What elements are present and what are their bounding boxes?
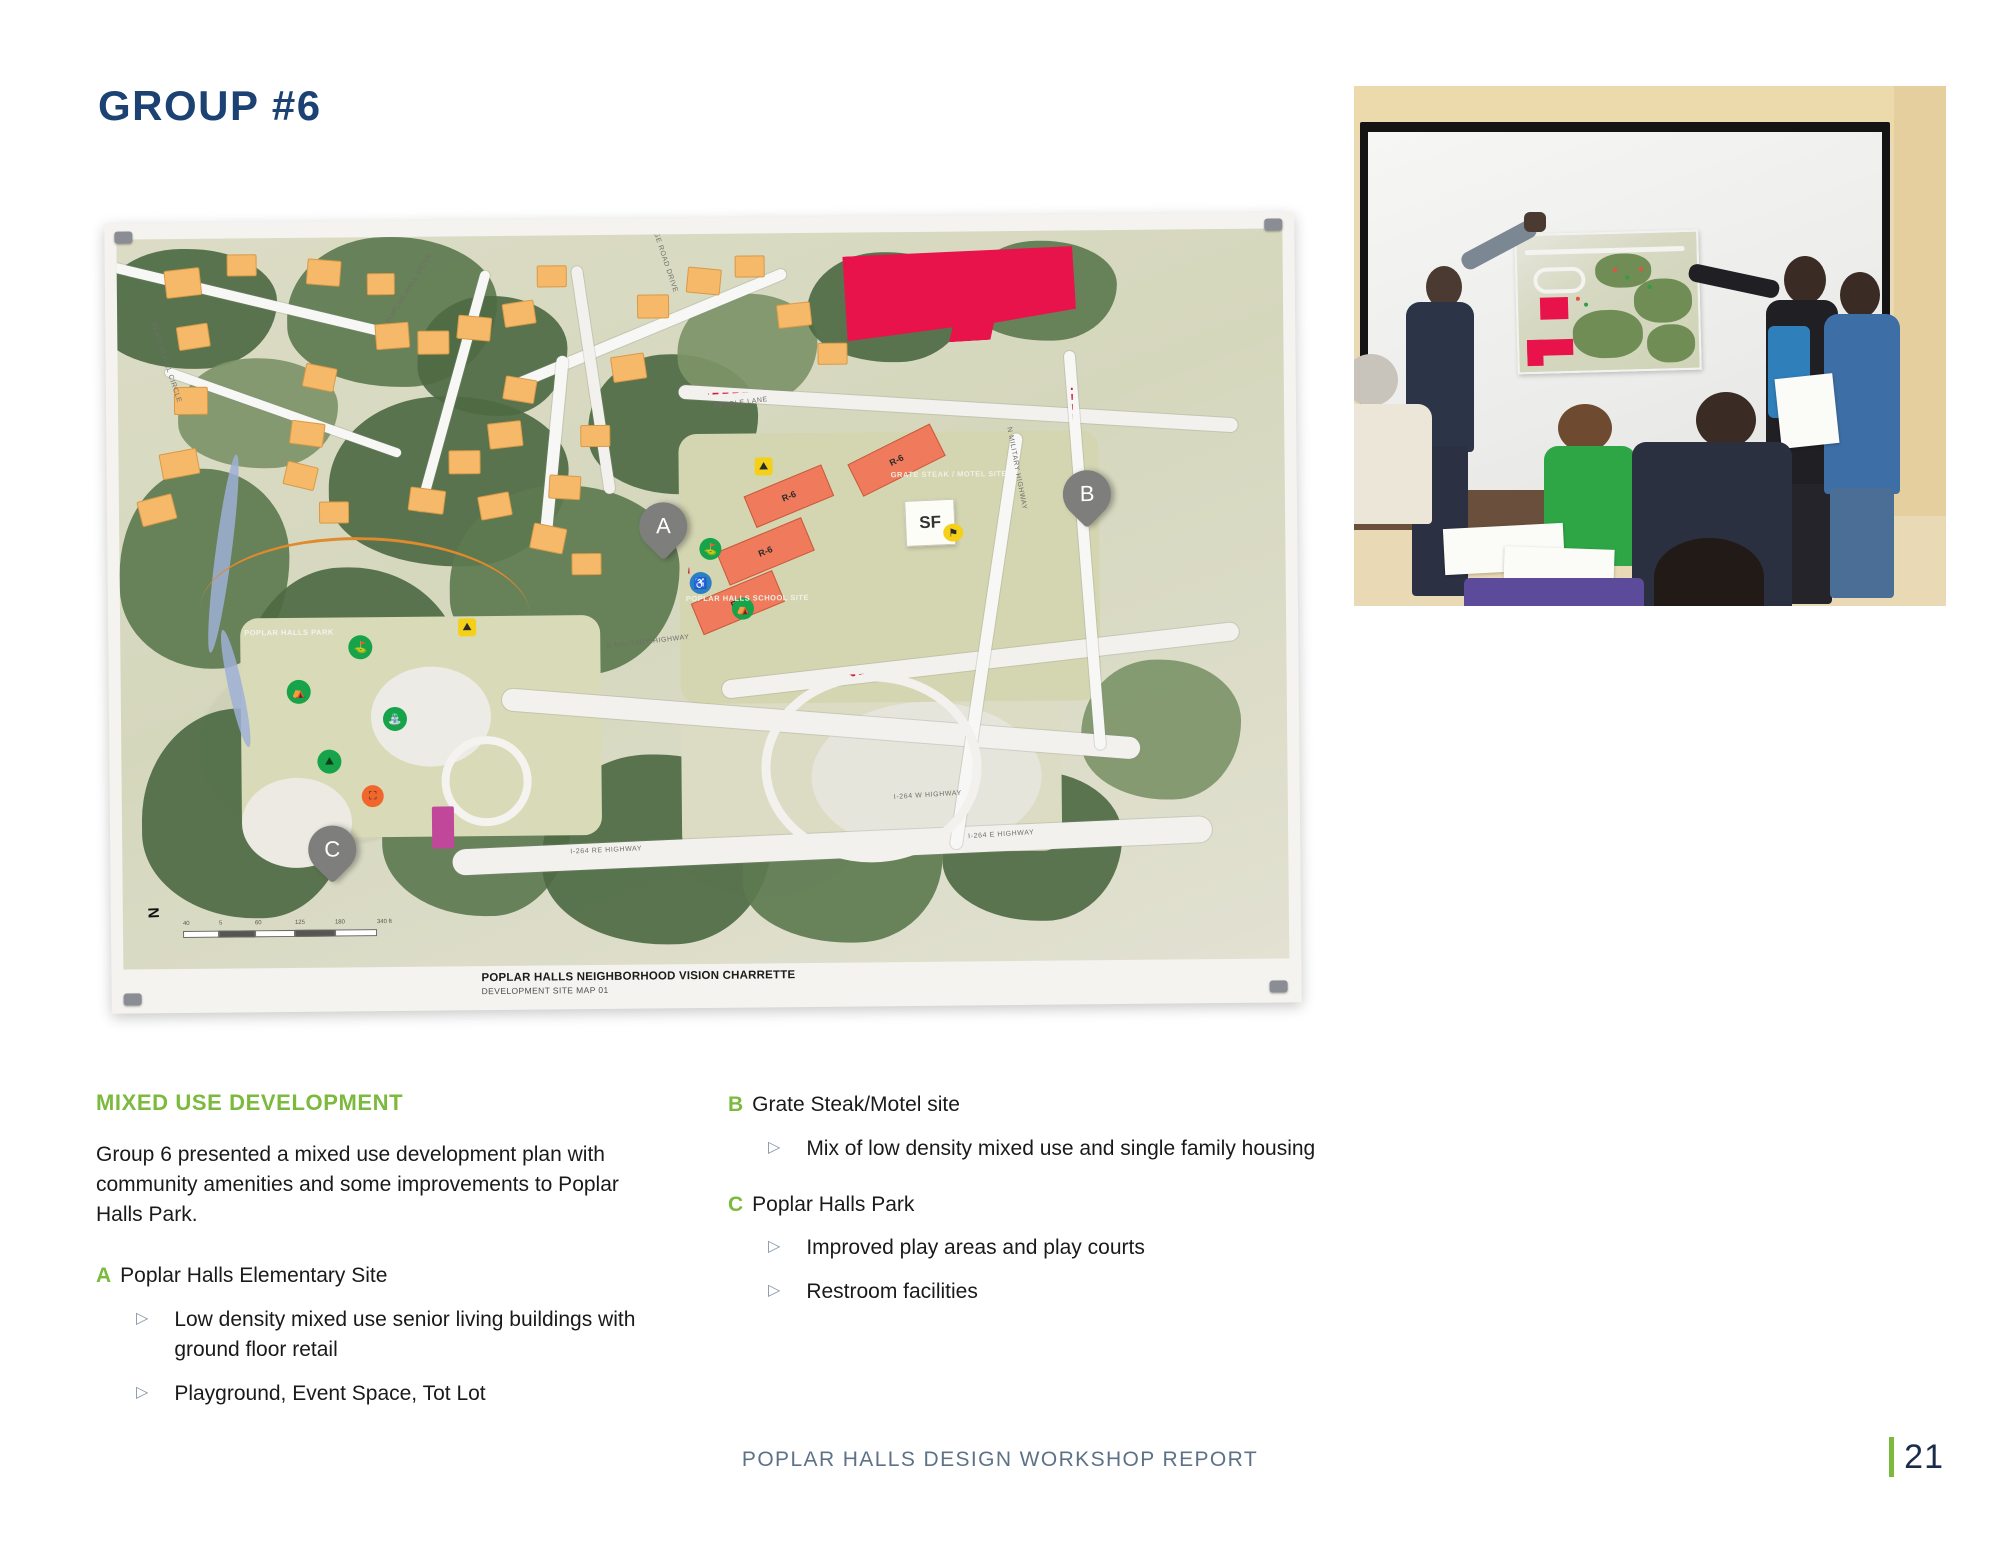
map-image: R-6 R-6 R-6 R-6 SF ⛳ ♿ ⛺ ⛰ ⚑ ⛳ ⛺ ⛲ ⛰ ⛶ ⛰ — [116, 228, 1289, 969]
sheet-clip — [114, 231, 132, 243]
map-pin-b-label: B — [1079, 481, 1094, 507]
area-label: POPLAR HALLS SCHOOL SITE — [686, 593, 809, 603]
sheet-clip — [124, 993, 142, 1005]
house-footprint — [448, 450, 480, 474]
house-footprint — [502, 300, 537, 328]
item-letter-c: C — [728, 1190, 743, 1220]
house-footprint — [417, 330, 449, 354]
amenity-sticker-yellow: ⚑ — [943, 523, 963, 541]
list-item-text: Improved play areas and play courts — [806, 1233, 1328, 1263]
content-column-left: MIXED USE DEVELOPMENT Group 6 presented … — [96, 1090, 636, 1435]
item-head-a: A Poplar Halls Elementary Site — [96, 1261, 636, 1291]
page-number-value: 21 — [1904, 1438, 1944, 1477]
photo-wall — [1894, 86, 1946, 516]
item-bullets-c: ▷ Improved play areas and play courts ▷ … — [728, 1233, 1328, 1307]
house-footprint — [776, 301, 813, 329]
item-title-a: Poplar Halls Elementary Site — [120, 1261, 387, 1291]
triangle-bullet-icon: ▷ — [136, 1305, 148, 1365]
house-footprint — [367, 273, 395, 295]
item-bullets-b: ▷ Mix of low density mixed use and singl… — [728, 1134, 1328, 1164]
item-head-b: B Grate Steak/Motel site — [728, 1090, 1328, 1120]
house-footprint — [817, 343, 847, 365]
list-item-text: Restroom facilities — [806, 1277, 1328, 1307]
house-footprint — [176, 323, 211, 351]
house-footprint — [319, 501, 349, 523]
restroom-structure — [432, 806, 454, 848]
list-item-text: Playground, Event Space, Tot Lot — [174, 1379, 636, 1409]
intro-paragraph: Group 6 presented a mixed use developmen… — [96, 1140, 636, 1229]
item-title-c: Poplar Halls Park — [752, 1190, 914, 1220]
page-number: 21 — [1889, 1437, 1944, 1477]
amenity-sticker-green: ⛳ — [699, 538, 721, 560]
house-footprint — [502, 375, 538, 404]
house-footprint — [686, 266, 722, 295]
page-number-rule — [1889, 1437, 1894, 1477]
page-title: GROUP #6 — [98, 82, 322, 130]
house-footprint — [282, 460, 319, 491]
list-item-text: Low density mixed use senior living buil… — [174, 1305, 636, 1365]
house-footprint — [610, 352, 647, 383]
house-footprint — [537, 265, 567, 287]
house-footprint — [456, 315, 492, 342]
scale-tick: 180 — [335, 919, 345, 925]
house-footprint — [227, 254, 257, 276]
list-item: ▷ Improved play areas and play courts — [728, 1233, 1328, 1263]
list-item-text: Mix of low density mixed use and single … — [806, 1134, 1328, 1164]
list-item: ▷ Playground, Event Space, Tot Lot — [96, 1379, 636, 1409]
map-sheet: R-6 R-6 R-6 R-6 SF ⛳ ♿ ⛺ ⛰ ⚑ ⛳ ⛺ ⛲ ⛰ ⛶ ⛰ — [104, 212, 1302, 1013]
photo-handout — [1775, 373, 1840, 449]
item-bullets-a: ▷ Low density mixed use senior living bu… — [96, 1305, 636, 1408]
scale-tick: 60 — [255, 920, 262, 926]
amenity-sticker-blue: ♿ — [690, 572, 712, 594]
house-footprint — [580, 425, 610, 447]
house-footprint — [289, 420, 326, 448]
item-title-b: Grate Steak/Motel site — [752, 1090, 960, 1120]
map-pin-a-label: A — [656, 513, 671, 539]
triangle-bullet-icon: ▷ — [768, 1134, 780, 1164]
triangle-bullet-icon: ▷ — [768, 1277, 780, 1307]
area-label: GRATE STEAK / MOTEL SITE — [891, 469, 1007, 479]
amenity-sticker-yellow: ⛰ — [755, 457, 773, 475]
item-head-c: C Poplar Halls Park — [728, 1190, 1328, 1220]
park-sticker-green: ⛺ — [287, 680, 311, 704]
house-footprint — [374, 322, 410, 351]
park-sticker-green: ⛰ — [317, 749, 341, 773]
scale-tick: 340 ft — [377, 919, 392, 925]
house-footprint — [637, 294, 669, 318]
house-footprint — [548, 474, 581, 500]
house-footprint — [306, 258, 342, 287]
content-column-right: B Grate Steak/Motel site ▷ Mix of low de… — [728, 1090, 1328, 1333]
presented-plan — [1514, 230, 1702, 375]
item-letter-b: B — [728, 1090, 743, 1120]
photo-chair-back — [1464, 578, 1644, 606]
site-map-panel: R-6 R-6 R-6 R-6 SF ⛳ ♿ ⛺ ⛰ ⚑ ⛳ ⛺ ⛲ ⛰ ⛶ ⛰ — [108, 218, 1298, 1008]
house-footprint — [487, 420, 524, 450]
sheet-clip — [1264, 218, 1282, 230]
triangle-bullet-icon: ▷ — [136, 1379, 148, 1409]
house-footprint — [735, 255, 765, 277]
triangle-bullet-icon: ▷ — [768, 1233, 780, 1263]
scale-tick: 5 — [219, 921, 222, 927]
workshop-photo — [1354, 86, 1946, 606]
list-item: ▷ Restroom facilities — [728, 1277, 1328, 1307]
area-label: POPLAR HALLS PARK — [244, 628, 334, 638]
house-footprint — [163, 267, 202, 299]
section-heading: MIXED USE DEVELOPMENT — [96, 1090, 636, 1116]
park-sticker-orange: ⛶ — [362, 785, 384, 807]
scale-tick: 125 — [295, 920, 305, 926]
street-label: RIDGE ROAD DRIVE — [648, 228, 679, 293]
sheet-clip — [1270, 980, 1288, 992]
map-pin-c-label: C — [324, 836, 340, 862]
scale-tick: 40 — [183, 921, 190, 927]
report-page: GROUP #6 — [0, 0, 2000, 1545]
house-footprint — [571, 553, 601, 575]
map-caption: POPLAR HALLS NEIGHBORHOOD VISION CHARRET… — [481, 968, 901, 996]
list-item: ▷ Low density mixed use senior living bu… — [96, 1305, 636, 1365]
map-scale-bar: 40 5 60 125 180 340 ft — [183, 919, 413, 943]
north-arrow-icon: N — [146, 907, 163, 919]
cul-de-sac — [441, 736, 532, 827]
map-caption-subtitle: DEVELOPMENT SITE MAP 01 — [482, 982, 902, 996]
item-letter-a: A — [96, 1261, 111, 1291]
house-footprint — [408, 486, 447, 514]
park-sticker-green: ⛲ — [383, 707, 407, 731]
footer-title: POPLAR HALLS DESIGN WORKSHOP REPORT — [0, 1448, 2000, 1472]
list-item: ▷ Mix of low density mixed use and singl… — [728, 1134, 1328, 1164]
